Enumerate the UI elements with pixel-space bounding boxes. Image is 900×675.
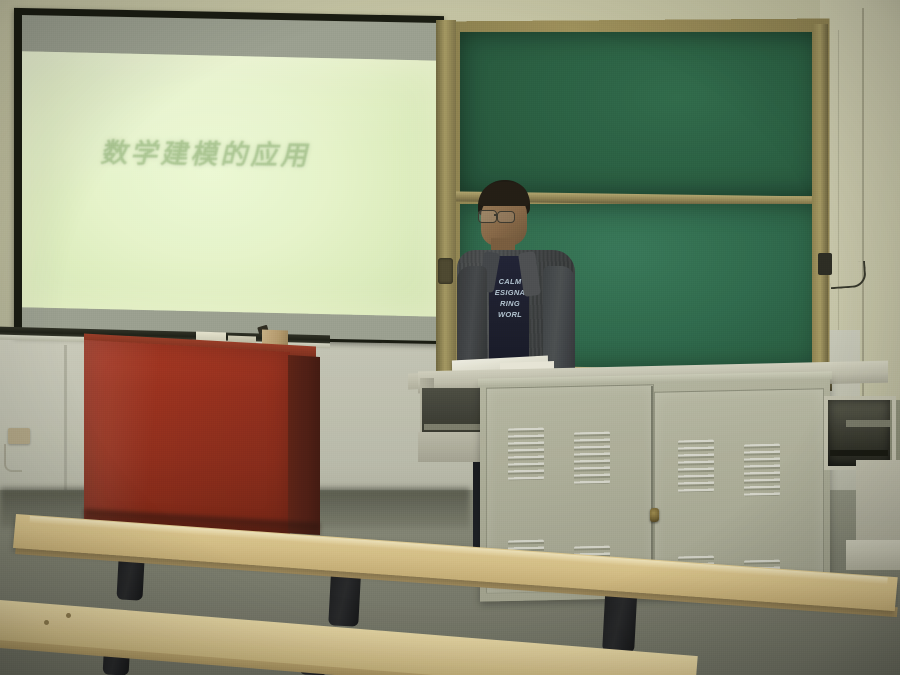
desk-lower-front [418, 432, 482, 462]
blackboard-bracket [438, 258, 453, 284]
wall-outlet-plate [8, 428, 30, 444]
glasses-icon [478, 210, 520, 222]
tshirt-text-line: WORL [489, 309, 531, 320]
glasses-bridge [494, 214, 498, 216]
bench-screw [66, 613, 71, 618]
blackboard-post-left [436, 20, 456, 412]
wall-seam-left [64, 345, 67, 505]
speaker-hair [479, 182, 529, 206]
desk-open-shelf [422, 388, 480, 438]
right-lower-step [846, 540, 900, 570]
slide-title-text: 数学建模的应用 [100, 131, 401, 174]
cabinet-vent-2 [574, 432, 610, 485]
bench-screw [44, 620, 49, 625]
blackboard-post-right [812, 24, 828, 408]
cabinet-vent-6 [744, 444, 780, 497]
podium-side-panel [288, 355, 320, 535]
cubby-frame [824, 396, 896, 470]
wall-seam [862, 8, 864, 398]
projector-glare [22, 51, 440, 316]
cabinet-vent-1 [508, 428, 544, 481]
desk-shelf-board [424, 424, 480, 430]
podium-front-sheen [84, 340, 290, 534]
glasses-lens-right [497, 211, 515, 223]
cabinet-vent-5 [678, 440, 714, 493]
blackboard-panel-upper [460, 32, 822, 196]
cabinet-lock[interactable] [650, 508, 659, 522]
tshirt-text-line: RING [489, 298, 531, 309]
glasses-lens-left [478, 210, 497, 223]
classroom-photo: 数学建模的应用 CALMESIGNARINGWORL [0, 0, 900, 675]
wall-outlet-wire [4, 444, 22, 472]
